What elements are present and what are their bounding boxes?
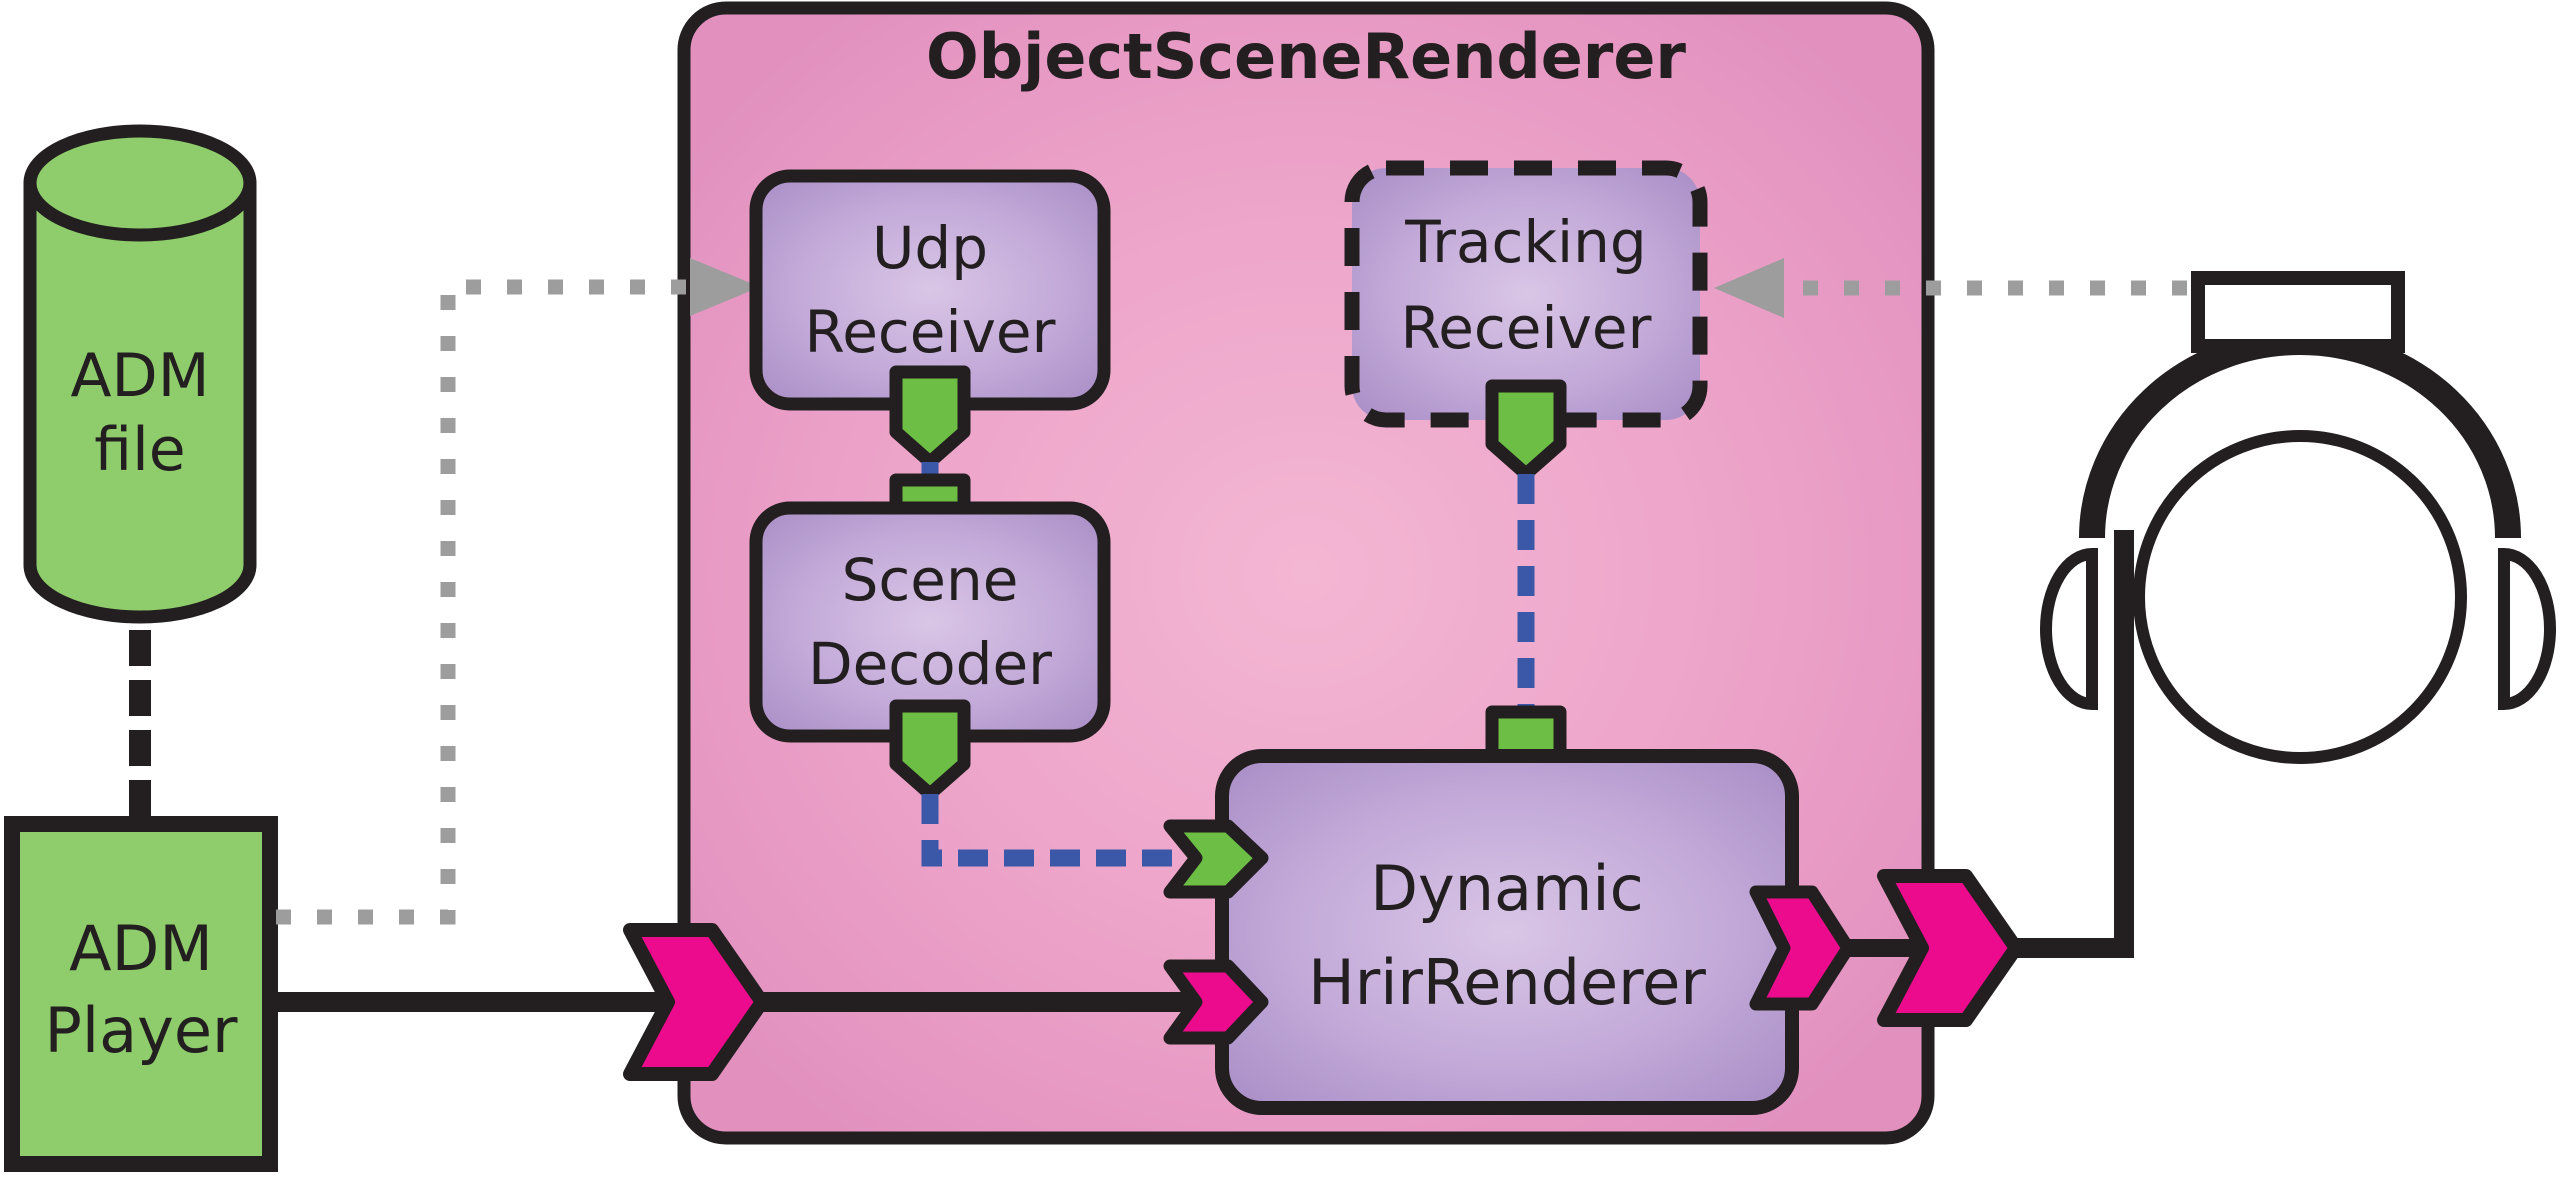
green-chevron-down-icon <box>1492 386 1560 474</box>
udp-receiver-label-line2: Receiver <box>805 298 1056 366</box>
udp-receiver-label-line1: Udp <box>872 214 988 282</box>
node-adm-file[interactable]: ADM file <box>30 131 250 617</box>
head-tracker-icon <box>2198 278 2398 346</box>
hrir-renderer-label-line2: HrirRenderer <box>1308 946 1706 1019</box>
container-title: ObjectSceneRenderer <box>926 20 1686 93</box>
green-chevron-down-icon <box>896 706 964 794</box>
right-earcup-icon <box>2504 554 2550 704</box>
adm-player-label-line2: Player <box>45 994 238 1067</box>
port-udp-out <box>896 372 964 462</box>
tracking-receiver-label-line2: Receiver <box>1401 294 1652 362</box>
port-scene-out <box>896 706 964 794</box>
hrir-renderer-label-line1: Dynamic <box>1370 852 1643 925</box>
diagram-canvas: ObjectSceneRenderer ADM file ADM Player … <box>0 0 2568 1198</box>
scene-decoder-label-line2: Decoder <box>808 630 1052 698</box>
node-adm-player[interactable]: ADM Player <box>12 824 270 1164</box>
adm-file-label-line1: ADM <box>70 341 209 411</box>
adm-player-label-line1: ADM <box>69 912 213 985</box>
hrir-renderer-body <box>1222 756 1792 1108</box>
scene-decoder-label-line1: Scene <box>842 546 1019 614</box>
adm-file-top <box>30 131 250 235</box>
tracking-receiver-label-line1: Tracking <box>1404 208 1646 276</box>
left-earcup-icon <box>2046 554 2092 704</box>
adm-file-label-line2: file <box>94 415 185 485</box>
player-udp-dotted-line <box>276 287 688 917</box>
green-chevron-down-icon <box>896 372 964 462</box>
node-dynamic-hrir-renderer[interactable]: Dynamic HrirRenderer <box>1222 756 1792 1108</box>
head-icon <box>2139 436 2461 758</box>
port-tracking-out <box>1492 386 1560 474</box>
